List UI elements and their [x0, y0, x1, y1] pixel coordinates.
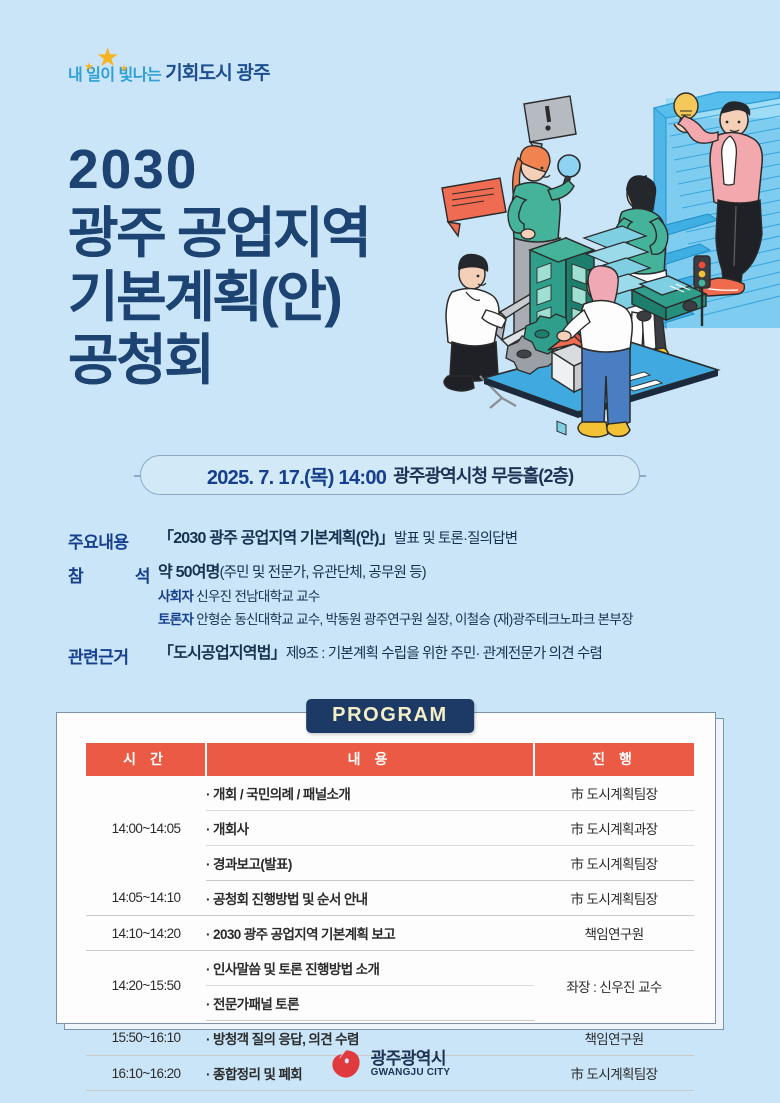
event-location: 광주광역시청 무등홀(2층) [393, 462, 573, 488]
cell-runner: 市 도시계획팀장 [534, 846, 694, 881]
event-datetime: 2025. 7. 17.(목) 14:00 [207, 461, 386, 490]
star-icon-small: ★ [84, 62, 94, 73]
event-details: 주요내용 「2030 광주 공업지역 기본계획(안)」발표 및 토론·질의답변 … [68, 528, 728, 677]
cell-runner: 책임연구원 [534, 916, 694, 951]
program-badge: PROGRAM [306, 699, 474, 733]
pill-tick-right [639, 475, 646, 477]
cell-content: · 개회 / 국민의례 / 패널소개 [206, 776, 534, 811]
panelists-line: 토론자 안형순 동신대학교 교수, 박동원 광주연구원 실장, 이철승 (재)광… [158, 610, 633, 630]
cell-time: 14:05~14:10 [86, 881, 206, 916]
star-icon-tiny: ★ [120, 64, 128, 73]
panelists-tag: 토론자 [158, 612, 193, 627]
detail-label-main-content: 주요내용 [68, 528, 158, 553]
footer-logo-text: 광주광역시 GWANGJU CITY [371, 1050, 451, 1079]
footer-city-name-en: GWANGJU CITY [371, 1067, 451, 1078]
table-row: 14:05~14:10 · 공청회 진행방법 및 순서 안내 市 도시계획팀장 [86, 881, 694, 916]
column-header-time: 시 간 [86, 743, 206, 776]
star-icon: ★ [96, 44, 119, 70]
detail-value-legal-basis: 「도시공업지역법」제9조 : 기본계획 수립을 위한 주민· 관계전문가 의견 … [158, 643, 602, 665]
moderator-name: 신우진 전남대학교 교수 [196, 589, 319, 604]
cell-runner: 市 도시계획팀장 [534, 881, 694, 916]
moderator-tag: 사회자 [158, 589, 193, 604]
cell-time: 14:10~14:20 [86, 916, 206, 951]
column-header-runner: 진 행 [534, 743, 694, 776]
cell-content: · 개회사 [206, 811, 534, 846]
cell-content: · 공청회 진행방법 및 순서 안내 [206, 881, 534, 916]
table-row: 14:20~15:50 · 인사말씀 및 토론 진행방법 소개 좌장 : 신우진… [86, 951, 694, 986]
detail-row-attendees: 참 석 약 50여명(주민 및 전문가, 유관단체, 공무원 등) 사회자 신우… [68, 562, 728, 629]
footer-logo: 광주광역시 GWANGJU CITY [0, 1048, 780, 1080]
headline-line-4: 공청회 [68, 329, 369, 393]
attendee-label-char-1: 참 [68, 562, 83, 587]
cell-content: · 2030 광주 공업지역 기본계획 보고 [206, 916, 534, 951]
detail-row-main-content: 주요내용 「2030 광주 공업지역 기본계획(안)」발표 및 토론·질의답변 [68, 528, 728, 553]
attendee-count: 약 50여명 [158, 564, 220, 581]
main-content-rest: 발표 및 토론·질의답변 [394, 531, 517, 547]
headline-line-3: 기본계획(안) [68, 266, 369, 330]
attendee-breakdown: (주민 및 전문가, 유관단체, 공무원 등) [220, 565, 426, 581]
cell-time: 14:20~15:50 [86, 951, 206, 1021]
program-table-header: 시 간 내 용 진 행 [86, 743, 694, 776]
attendee-label-char-2: 석 [135, 562, 150, 587]
poster-root: ★ ★ ★ 내 일이 빛나는 기회도시 광주 2030 광주 공업지역 기본계획… [0, 0, 780, 1103]
gwangju-city-mark-icon [330, 1048, 362, 1080]
moderator-line: 사회자 신우진 전남대학교 교수 [158, 587, 633, 607]
event-datetime-bar: 2025. 7. 17.(목) 14:00 광주광역시청 무등홀(2층) [140, 455, 640, 495]
headline-line-2: 광주 공업지역 [68, 202, 369, 266]
program-table: 시 간 내 용 진 행 14:00~14:05 · 개회 / 국민의례 / 패널… [86, 743, 694, 1091]
table-row: 14:00~14:05 · 개회 / 국민의례 / 패널소개 市 도시계획팀장 [86, 776, 694, 811]
headline-line-1: 2030 [68, 138, 369, 202]
detail-label-attendees: 참 석 [68, 562, 158, 587]
page-title: 2030 광주 공업지역 기본계획(안) 공청회 [68, 138, 369, 393]
panelists-names: 안형순 동신대학교 교수, 박동원 광주연구원 실장, 이철승 (재)광주테크노… [196, 612, 633, 627]
detail-row-legal-basis: 관련근거 「도시공업지역법」제9조 : 기본계획 수립을 위한 주민· 관계전문… [68, 643, 728, 668]
speech-bubble-icon [442, 178, 506, 236]
legal-basis-law: 「도시공업지역법」 [158, 645, 286, 662]
hero-illustration [418, 78, 780, 440]
cell-runner-merged: 좌장 : 신우진 교수 [534, 951, 694, 1021]
cell-runner: 市 도시계획과장 [534, 811, 694, 846]
legal-basis-article: 제9조 : 기본계획 수립을 위한 주민· 관계전문가 의견 수렴 [286, 646, 602, 662]
main-content-plan-title: 「2030 광주 공업지역 기본계획(안)」 [158, 530, 394, 547]
detail-label-legal-basis: 관련근거 [68, 643, 158, 668]
cell-content: · 경과보고(발표) [206, 846, 534, 881]
cell-time: 14:00~14:05 [86, 776, 206, 881]
cell-content: · 전문가패널 토론 [206, 986, 534, 1021]
pill-tick-left [134, 475, 141, 477]
slogan-bold: 기회도시 광주 [165, 58, 270, 85]
detail-value-attendees: 약 50여명(주민 및 전문가, 유관단체, 공무원 등) 사회자 신우진 전남… [158, 562, 633, 629]
brand-slogan: ★ ★ ★ 내 일이 빛나는 기회도시 광주 [68, 58, 270, 85]
cell-runner: 市 도시계획팀장 [534, 776, 694, 811]
detail-value-main-content: 「2030 광주 공업지역 기본계획(안)」발표 및 토론·질의답변 [158, 528, 517, 550]
cell-content: · 인사말씀 및 토론 진행방법 소개 [206, 951, 534, 986]
column-header-content: 내 용 [206, 743, 534, 776]
table-row: 14:10~14:20 · 2030 광주 공업지역 기본계획 보고 책임연구원 [86, 916, 694, 951]
footer-city-name-kr: 광주광역시 [371, 1050, 451, 1068]
